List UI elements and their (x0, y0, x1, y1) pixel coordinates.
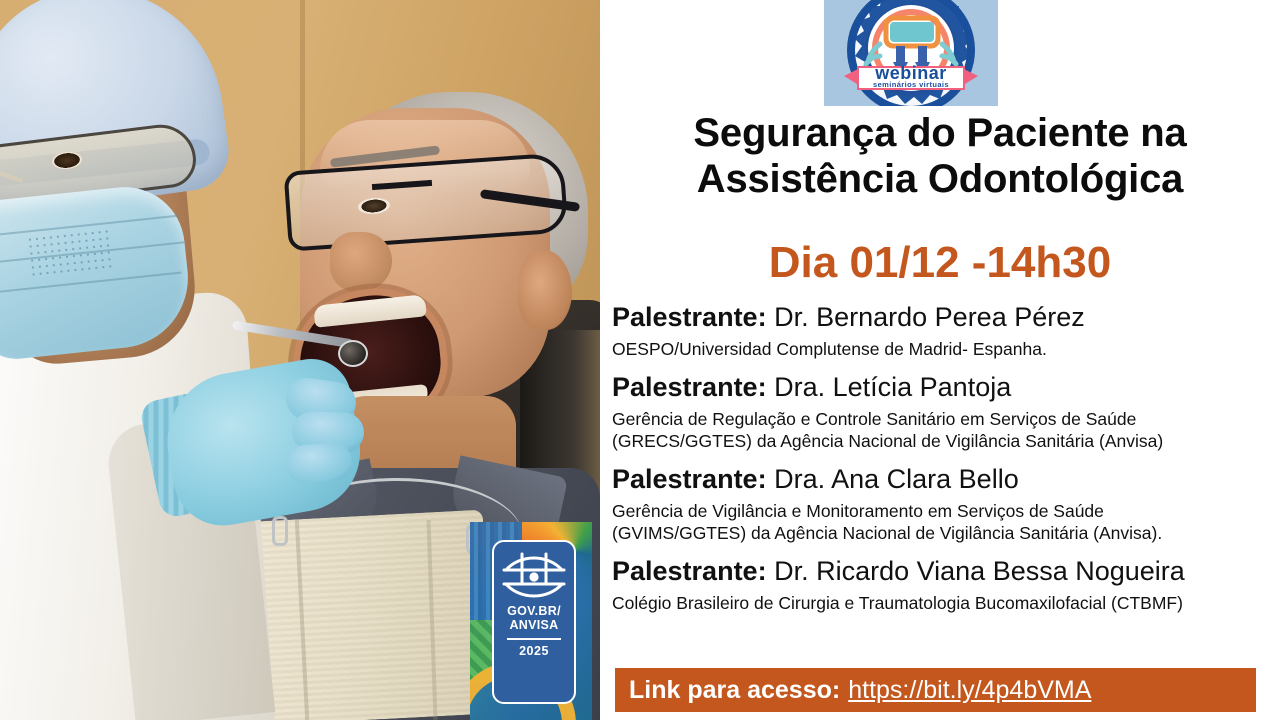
anvisa-logo-card: GOV.BR/ ANVISA 2025 (492, 540, 576, 704)
anvisa-year: 2025 (494, 644, 574, 658)
webinar-logo: webinar seminários virtuais (824, 0, 998, 106)
speaker-affiliation: Gerência de Vigilância e Monitoramento e… (612, 500, 1274, 544)
speaker-label: Palestrante: (612, 464, 767, 494)
dentist-patient-photo: GOV.BR/ ANVISA 2025 (0, 0, 600, 720)
speaker-label: Palestrante: (612, 556, 767, 586)
speaker-affiliation: Gerência de Regulação e Controle Sanitár… (612, 408, 1274, 452)
speaker-line: Palestrante: Dra. Letícia Pantoja (612, 370, 1274, 404)
access-link-url[interactable]: https://bit.ly/4p4bVMA (848, 676, 1091, 705)
govbr-anvisa-logo: GOV.BR/ ANVISA 2025 (470, 522, 592, 720)
access-link-label: Link para acesso: (629, 676, 840, 705)
speaker-affiliation: Colégio Brasileiro de Cirurgia e Traumat… (612, 592, 1274, 614)
affiliation-line: Gerência de Vigilância e Monitoramento e… (612, 500, 1274, 522)
affiliation-line: (GRECS/GGTES) da Agência Nacional de Vig… (612, 430, 1274, 452)
anvisa-divider (507, 638, 561, 640)
glove-finger (285, 442, 353, 485)
speaker-name: Dr. Ricardo Viana Bessa Nogueira (774, 556, 1185, 586)
poster-content: webinar seminários virtuais Segurança do… (600, 0, 1280, 720)
affiliation-line: Gerência de Regulação e Controle Sanitár… (612, 408, 1274, 430)
speaker-line: Palestrante: Dr. Bernardo Perea Pérez (612, 300, 1274, 334)
anvisa-name-line-2: ANVISA (494, 618, 574, 632)
speaker-label: Palestrante: (612, 302, 767, 332)
affiliation-line: (GVIMS/GGTES) da Agência Nacional de Vig… (612, 522, 1274, 544)
event-datetime: Dia 01/12 -14h30 (606, 238, 1274, 288)
affiliation-line: Colégio Brasileiro de Cirurgia e Traumat… (612, 592, 1274, 614)
badge-subtitle: seminários virtuais (873, 80, 949, 89)
anvisa-name-line-1: GOV.BR/ (494, 604, 574, 618)
anvisa-eye-icon (502, 550, 566, 602)
access-link-bar[interactable]: Link para acesso: https://bit.ly/4p4bVMA (615, 668, 1256, 712)
speaker-name: Dra. Letícia Pantoja (774, 372, 1011, 402)
affiliation-line: OESPO/Universidad Complutense de Madrid-… (612, 338, 1274, 360)
speaker-name: Dra. Ana Clara Bello (774, 464, 1019, 494)
speaker-label: Palestrante: (612, 372, 767, 402)
page-title: Segurança do Paciente na Assistência Odo… (606, 110, 1274, 202)
dental-bib-clip-left (272, 516, 288, 546)
patient-ear (518, 250, 572, 330)
speaker-name: Dr. Bernardo Perea Pérez (774, 302, 1085, 332)
title-line-1: Segurança do Paciente na (606, 110, 1274, 156)
speaker-line: Palestrante: Dra. Ana Clara Bello (612, 462, 1274, 496)
speaker-line: Palestrante: Dr. Ricardo Viana Bessa Nog… (612, 554, 1274, 588)
webinar-badge: webinar seminários virtuais (836, 0, 986, 106)
speakers-list: Palestrante: Dr. Bernardo Perea Pérez OE… (612, 300, 1274, 624)
dental-mirror-head (338, 340, 368, 367)
title-line-2: Assistência Odontológica (606, 156, 1274, 202)
speaker-affiliation: OESPO/Universidad Complutense de Madrid-… (612, 338, 1274, 360)
webinar-poster: GOV.BR/ ANVISA 2025 (0, 0, 1280, 720)
